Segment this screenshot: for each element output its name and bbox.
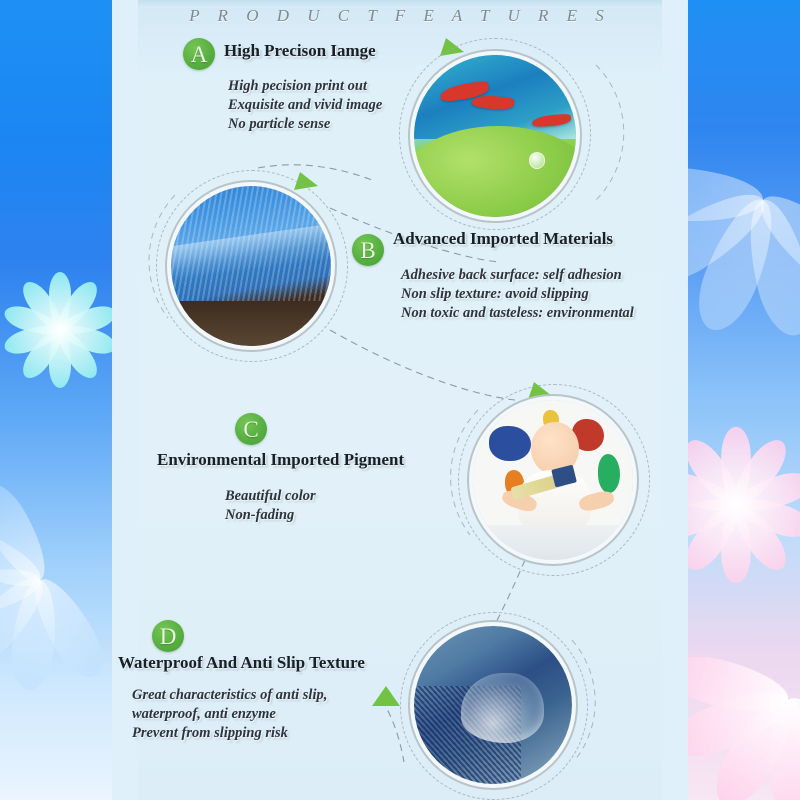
- feature-photo-b[interactable]: [171, 186, 331, 346]
- page-title: P R O D U C T F E A T U R E S: [138, 6, 662, 26]
- feature-line: Prevent from slipping risk: [132, 724, 327, 743]
- feature-lines-d: Great characteristics of anti slip, wate…: [132, 686, 327, 743]
- feature-line: waterproof, anti enzyme: [132, 705, 327, 724]
- feature-lines-b: Adhesive back surface: self adhesion Non…: [401, 266, 634, 323]
- feature-line: Great characteristics of anti slip,: [132, 686, 327, 705]
- feature-title-c: Environmental Imported Pigment: [157, 450, 404, 470]
- photo-c-paint-splatter: [598, 454, 620, 492]
- feature-line: Beautiful color: [225, 487, 316, 506]
- feature-line: Non-fading: [225, 506, 316, 525]
- product-features-infographic: P R O D U C T F E A T U R E S: [0, 0, 800, 800]
- feature-line: No particle sense: [228, 115, 382, 134]
- photo-d-water-droplet: [461, 673, 543, 743]
- feature-line: High pecision print out: [228, 77, 382, 96]
- feature-badge-b: B: [352, 234, 384, 266]
- feature-photo-c[interactable]: [473, 400, 633, 560]
- right-decorative-border: [688, 0, 800, 800]
- photo-b-table-surface: [171, 301, 331, 346]
- left-panel-gap: [112, 0, 138, 800]
- feature-badge-a: A: [183, 38, 215, 70]
- feature-lines-a: High pecision print out Exquisite and vi…: [228, 77, 382, 134]
- feature-photo-a[interactable]: [414, 55, 576, 217]
- feature-badge-d: D: [152, 620, 184, 652]
- feature-badge-c: C: [235, 413, 267, 445]
- feature-lines-c: Beautiful color Non-fading: [225, 487, 316, 525]
- right-panel-gap: [662, 0, 688, 800]
- photo-c-painted-floor: [473, 525, 633, 560]
- feature-photo-d[interactable]: [414, 626, 572, 784]
- feature-title-b: Advanced Imported Materials: [393, 229, 613, 249]
- feature-line: Non slip texture: avoid slipping: [401, 285, 634, 304]
- photo-a-lotus-leaf: [414, 126, 576, 217]
- left-decorative-border: [0, 0, 112, 800]
- photo-a-water-drop: [529, 152, 546, 169]
- photo-c-paint-splatter: [489, 426, 531, 461]
- feature-line: Non toxic and tasteless: environmental: [401, 304, 634, 323]
- feature-title-a: High Precison Iamge: [224, 41, 376, 61]
- feature-line: Adhesive back surface: self adhesion: [401, 266, 634, 285]
- feature-line: Exquisite and vivid image: [228, 96, 382, 115]
- feature-title-d: Waterproof And Anti Slip Texture: [118, 653, 365, 673]
